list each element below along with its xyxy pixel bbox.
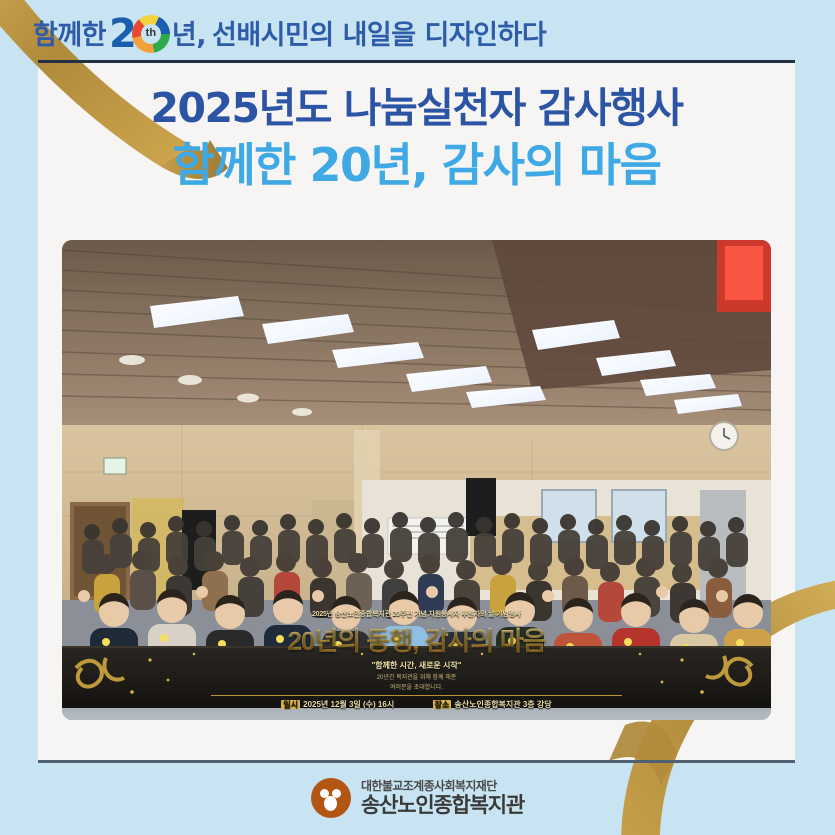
poster-root: 함께한 2 th 년, 선배시민의 내일을 디자인하다 2025년도 나눔실천자… [0, 0, 835, 835]
anniversary-ring-icon: th [132, 15, 170, 53]
anniversary-th-label: th [146, 28, 156, 39]
footer-logo-block: 대한불교조계종사회복지재단 송산노인종합복지관 [0, 778, 835, 818]
tagline-pre-text: 함께한 [33, 13, 106, 52]
tagline-tail-text: 선배시민의 내일을 디자인하다 [212, 13, 546, 52]
footer-text-block: 대한불교조계종사회복지재단 송산노인종합복지관 [361, 780, 524, 816]
footer-organization-name: 대한불교조계종사회복지재단 [361, 780, 524, 792]
page-title-primary: 2025년도 나눔실천자 감사행사 [38, 78, 795, 132]
anniversary-20th-mark: 2 th [109, 14, 170, 54]
footer-center-name: 송산노인종합복지관 [361, 795, 524, 816]
anniversary-digit-two: 2 [109, 14, 134, 54]
page-title-secondary: 함께한 20년, 감사의 마음 [38, 138, 795, 193]
photo-illustration [62, 240, 771, 720]
card-bottom-divider [38, 760, 795, 763]
title-block: 2025년도 나눔실천자 감사행사 함께한 20년, 감사의 마음 [38, 78, 795, 194]
header-tagline: 함께한 2 th 년, 선배시민의 내일을 디자인하다 [0, 0, 835, 62]
logo-dot-bottom [324, 796, 337, 811]
jogye-welfare-logo-icon [311, 778, 351, 818]
tagline-post-text: 년, [172, 13, 206, 52]
tagline-inner: 함께한 2 th 년, 선배시민의 내일을 디자인하다 [33, 11, 546, 52]
event-group-photo: 2025년 송산노인종합복지관 20주년 기념 자원봉사자 후원자의 날 기념행… [62, 240, 771, 720]
anniversary-th-badge: th [141, 24, 161, 44]
